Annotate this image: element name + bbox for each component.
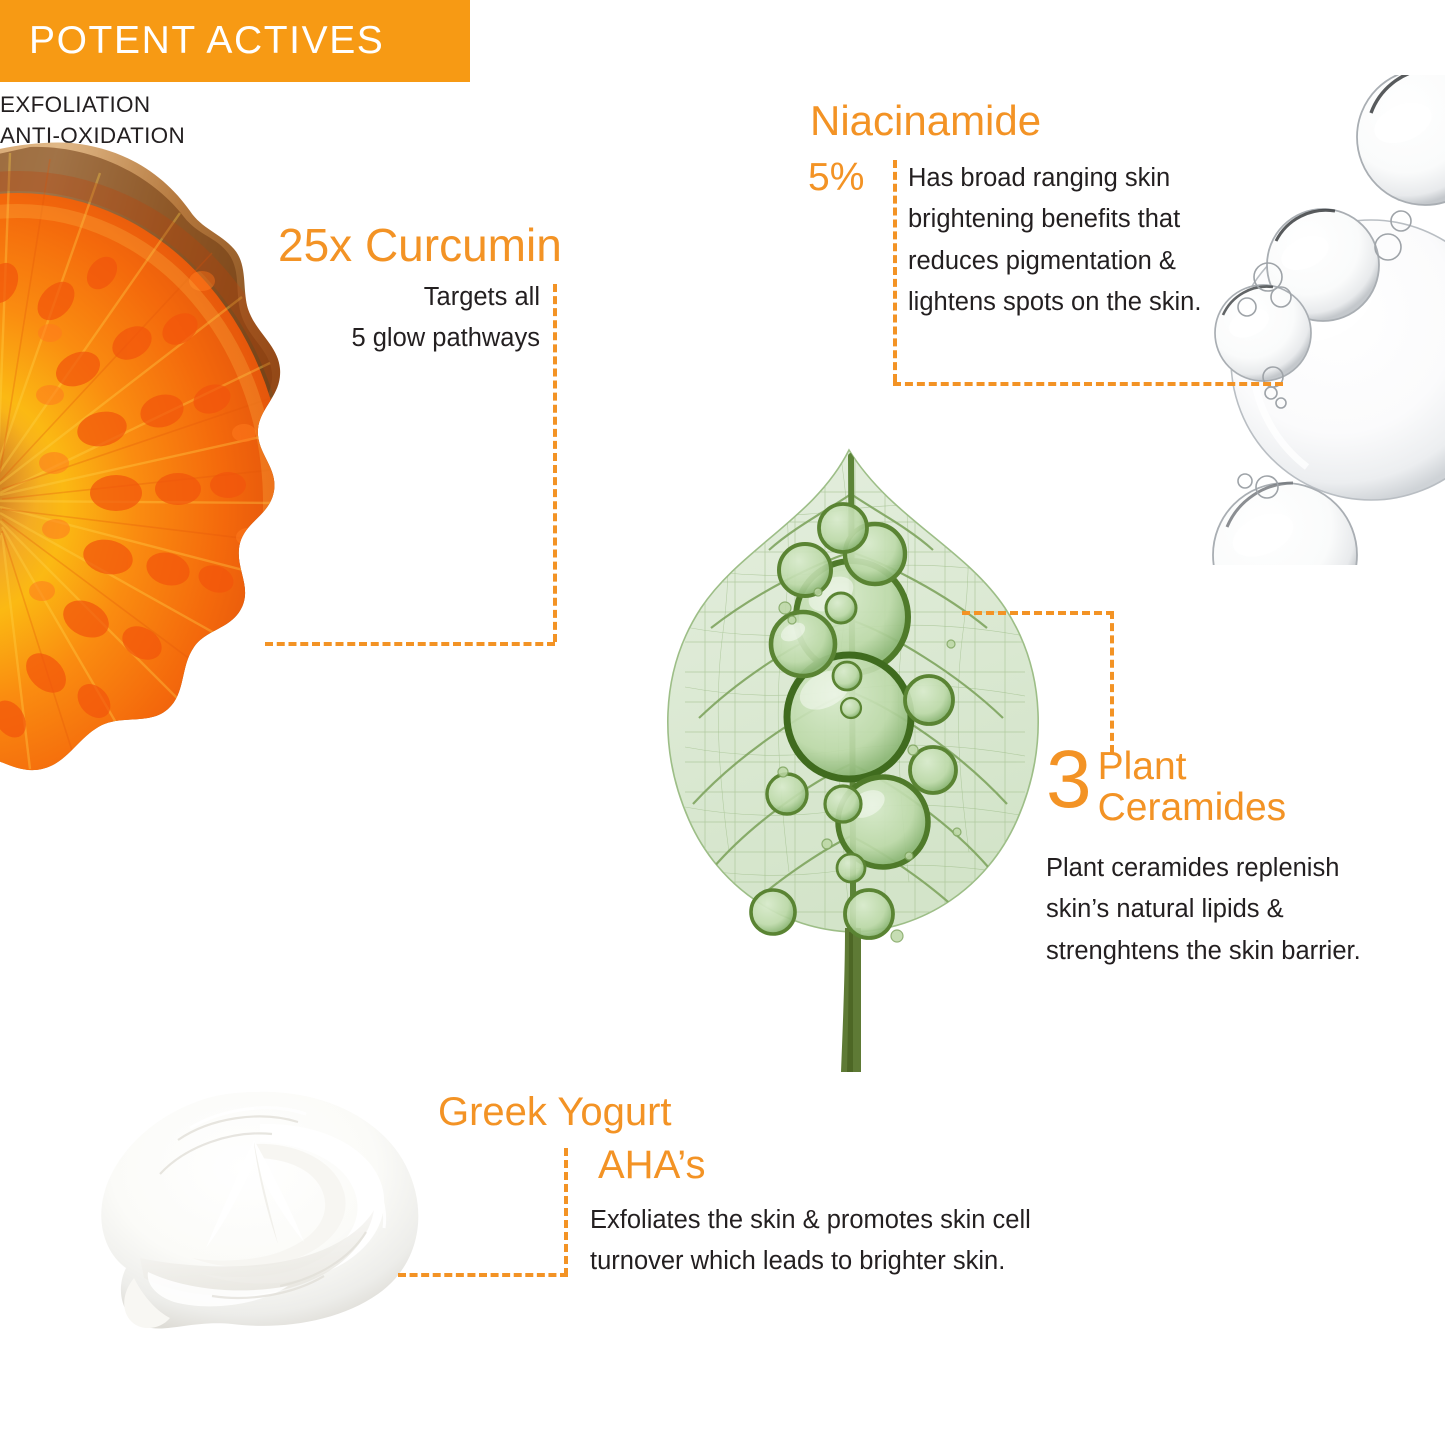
connector-niacinamide-horizontal: [893, 382, 1283, 386]
page-title: POTENT ACTIVES: [0, 19, 384, 63]
infographic-canvas: POTENT ACTIVES 25x Curcumin Targets all …: [0, 0, 1445, 1445]
connector-niacinamide-vertical: [893, 160, 897, 382]
connector-yogurt-vertical: [564, 1148, 568, 1276]
leaf-with-droplets-image: [665, 432, 1065, 1077]
header-banner: POTENT ACTIVES: [0, 0, 470, 82]
curcumin-name: 25x Curcumin: [278, 222, 562, 269]
ceramides-word-line-2: Ceramides: [1098, 788, 1287, 829]
connector-curcumin-horizontal: [265, 642, 555, 646]
connector-ceramides-horizontal: [962, 611, 1114, 615]
ceramides-description: Plant ceramides replenish skin’s natural…: [1046, 848, 1376, 972]
greek-yogurt-name-line-2: AHA’s: [598, 1145, 705, 1186]
greek-yogurt-name-line-1: Greek Yogurt: [438, 1092, 672, 1133]
niacinamide-name: Niacinamide: [810, 100, 1041, 143]
ceramides-words: Plant Ceramides: [1092, 744, 1287, 828]
cream-swirl-image: [82, 1082, 447, 1352]
connector-curcumin-vertical: [553, 284, 557, 642]
niacinamide-percentage: 5%: [808, 158, 864, 198]
greek-yogurt-description: Exfoliates the skin & promotes skin cell…: [590, 1200, 1110, 1283]
connector-ceramides-vertical: [1110, 611, 1114, 753]
connector-yogurt-horizontal: [398, 1273, 568, 1277]
bubbles-image: [1175, 75, 1445, 565]
turmeric-slice-image: [0, 133, 295, 878]
ceramides-word-line-1: Plant: [1098, 747, 1287, 788]
ceramides-heading: 3 Plant Ceramides: [1046, 744, 1286, 828]
